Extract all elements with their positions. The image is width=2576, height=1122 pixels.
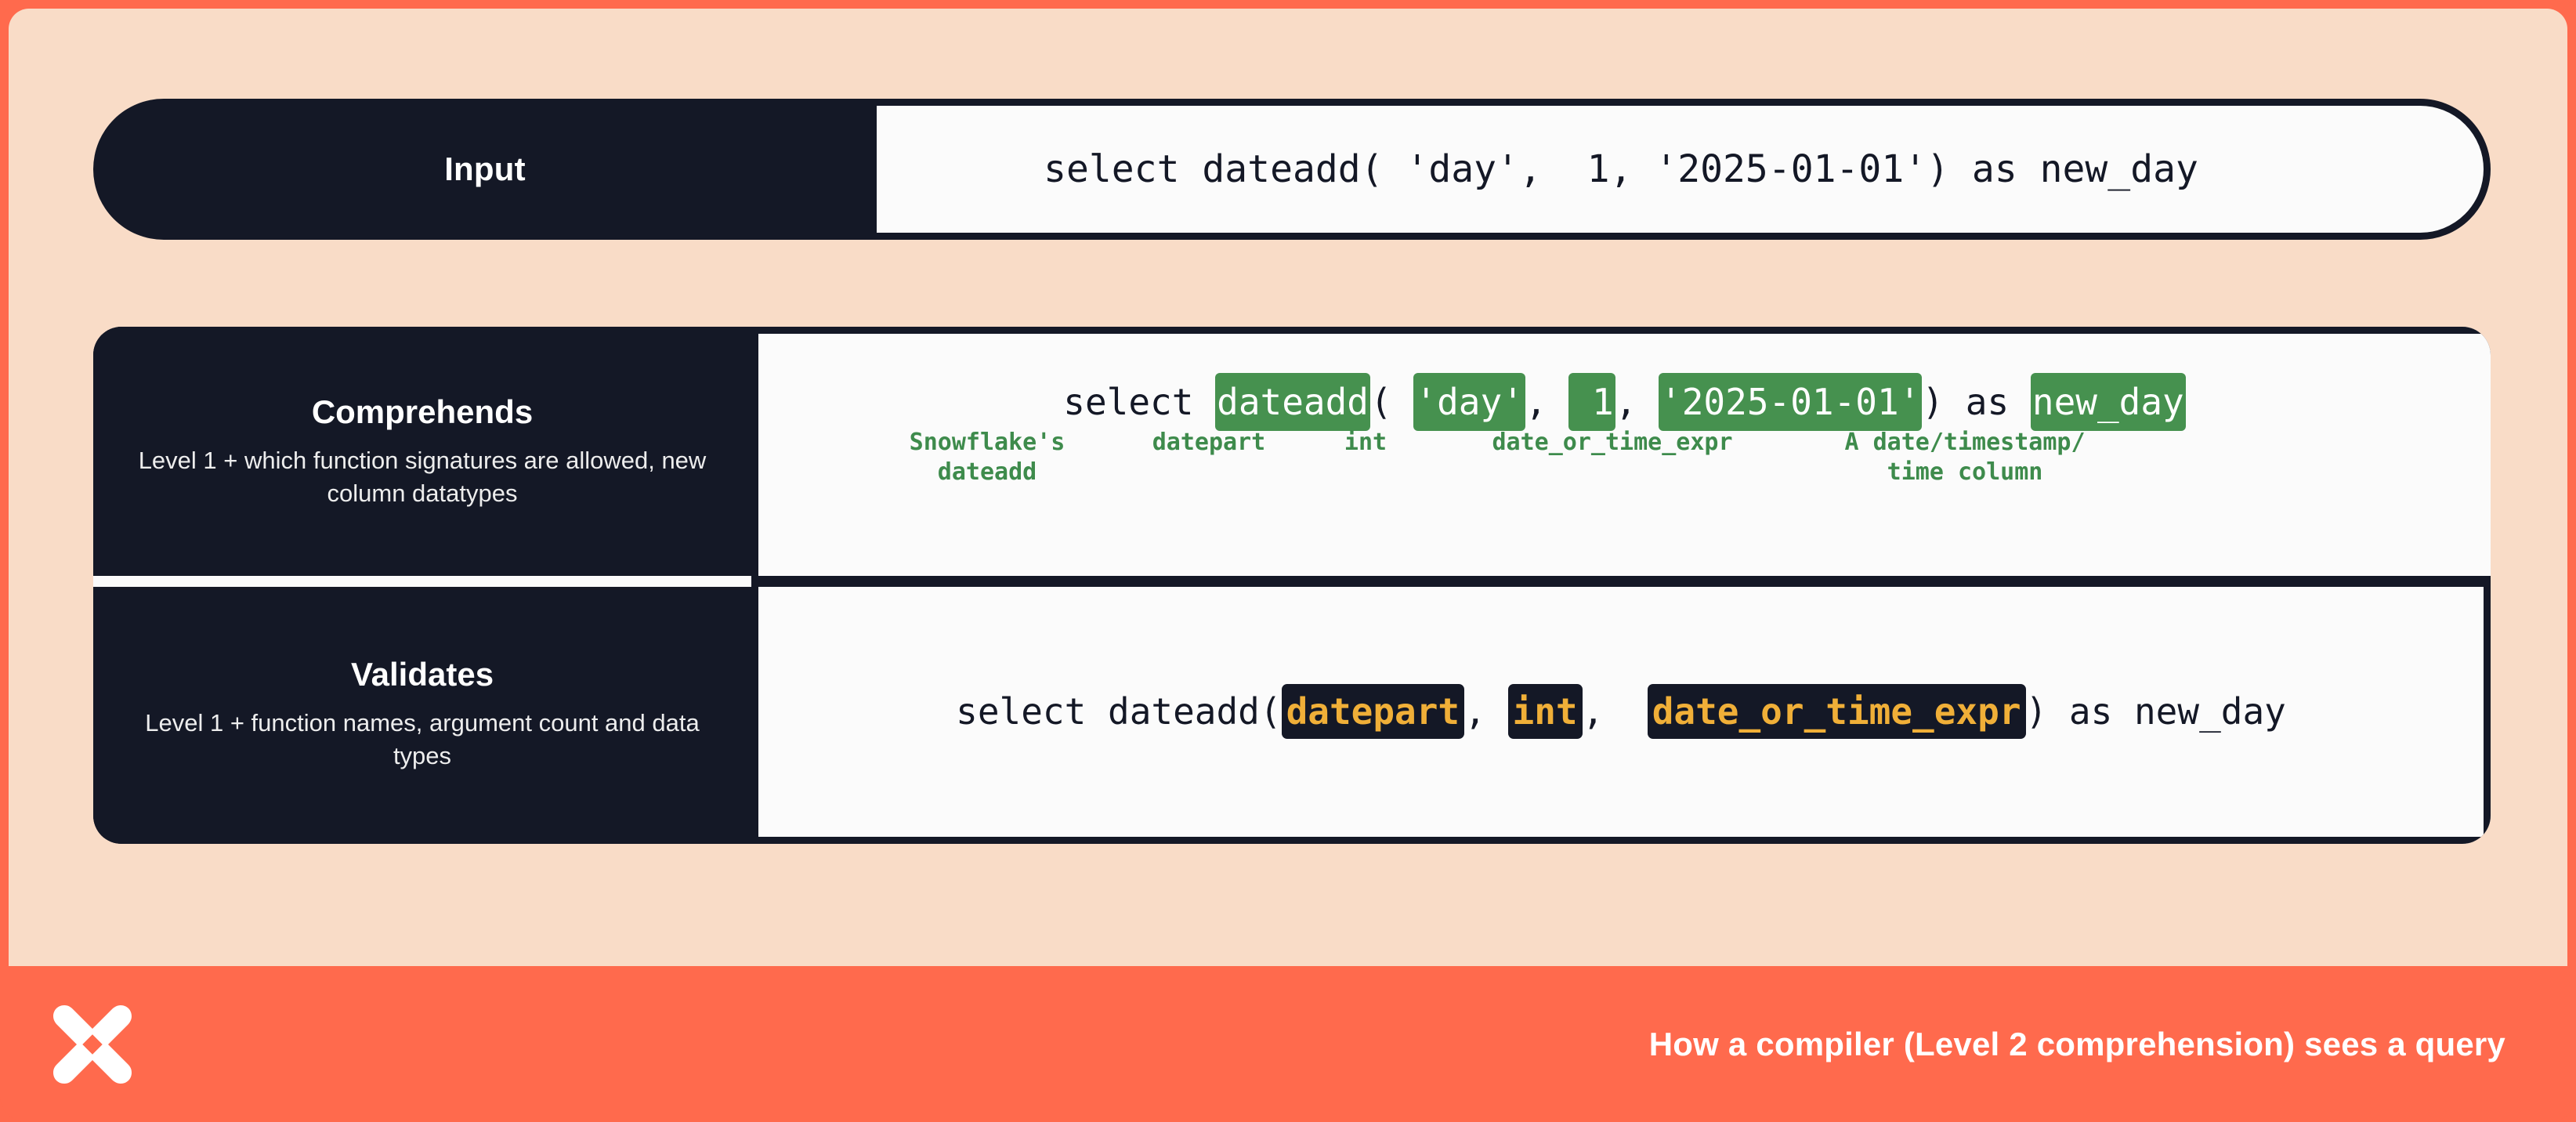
token-paren-close: ): [1922, 381, 1965, 423]
comprehends-label-col: Comprehends Level 1 + which function sig…: [93, 327, 751, 577]
input-code-panel: select dateadd( 'day', 1, '2025-01-01') …: [751, 99, 2491, 240]
token-dateadd-highlight: dateadd: [1215, 373, 1370, 431]
input-label-title: Input: [444, 150, 526, 188]
comprehends-subtitle: Level 1 + which function signatures are …: [121, 444, 723, 510]
vtoken-comma-2: ,: [1583, 690, 1648, 733]
comprehends-code-col: select dateadd( 'day', 1, '2025-01-01') …: [751, 327, 2491, 577]
vtoken-datepart-chip: datepart: [1282, 684, 1465, 739]
footer-bar: How a compiler (Level 2 comprehension) s…: [0, 966, 2576, 1122]
annotation-date-timestamp-column: A date/timestamp/ time column: [1793, 428, 2137, 488]
vtoken-expr-chip: date_or_time_expr: [1648, 684, 2026, 739]
input-row: select dateadd( 'day', 1, '2025-01-01') …: [93, 99, 2491, 240]
validates-label-col: Validates Level 1 + function names, argu…: [93, 585, 751, 844]
comprehends-row: Comprehends Level 1 + which function sig…: [93, 327, 2491, 577]
row-divider-gap: [93, 576, 751, 587]
token-select: select: [1063, 381, 1215, 423]
vtoken-tail: ) as new_day: [2026, 690, 2286, 733]
content-canvas: select dateadd( 'day', 1, '2025-01-01') …: [9, 9, 2567, 966]
vtoken-select: select dateadd(: [956, 690, 1281, 733]
token-as: as: [1966, 381, 2031, 423]
token-date-highlight: '2025-01-01': [1659, 373, 1922, 431]
footer-caption: How a compiler (Level 2 comprehension) s…: [1649, 1026, 2505, 1063]
annotation-date-or-time-expr: date_or_time_expr: [1416, 428, 1808, 458]
token-comma-1: ,: [1525, 381, 1568, 423]
comprehends-code-line: select dateadd( 'day', 1, '2025-01-01') …: [1063, 381, 2186, 423]
annotation-datepart: datepart: [1103, 428, 1315, 458]
levels-card: Comprehends Level 1 + which function sig…: [93, 327, 2491, 844]
token-newday-highlight: new_day: [2031, 373, 2186, 431]
validates-code-col: select dateadd(datepart, int, date_or_ti…: [751, 585, 2491, 844]
token-comma-2: ,: [1615, 381, 1659, 423]
vtoken-comma-1: ,: [1464, 690, 1507, 733]
token-one-highlight: 1: [1568, 373, 1615, 431]
token-paren-open: (: [1370, 381, 1413, 423]
row-divider: [751, 576, 2491, 587]
validates-row: Validates Level 1 + function names, argu…: [93, 585, 2491, 844]
input-label-pill: Input: [93, 99, 877, 240]
validates-code-line: select dateadd(datepart, int, date_or_ti…: [956, 690, 2286, 733]
annotation-int: int: [1307, 428, 1424, 458]
validates-title: Validates: [351, 657, 494, 693]
comprehends-annotations: Snowflake's dateadd datepart int date_or…: [758, 428, 2491, 522]
vtoken-int-chip: int: [1508, 684, 1583, 739]
validates-subtitle: Level 1 + function names, argument count…: [121, 707, 723, 773]
input-code-text: select dateadd( 'day', 1, '2025-01-01') …: [1044, 147, 2198, 191]
token-day-highlight: 'day': [1413, 373, 1525, 431]
infographic-frame: select dateadd( 'day', 1, '2025-01-01') …: [0, 0, 2576, 1122]
star-x-logo-icon: [49, 999, 136, 1087]
annotation-snowflake-dateadd: Snowflake's dateadd: [870, 428, 1105, 488]
comprehends-code-stack: select dateadd( 'day', 1, '2025-01-01') …: [758, 381, 2491, 522]
comprehends-title: Comprehends: [312, 394, 533, 430]
